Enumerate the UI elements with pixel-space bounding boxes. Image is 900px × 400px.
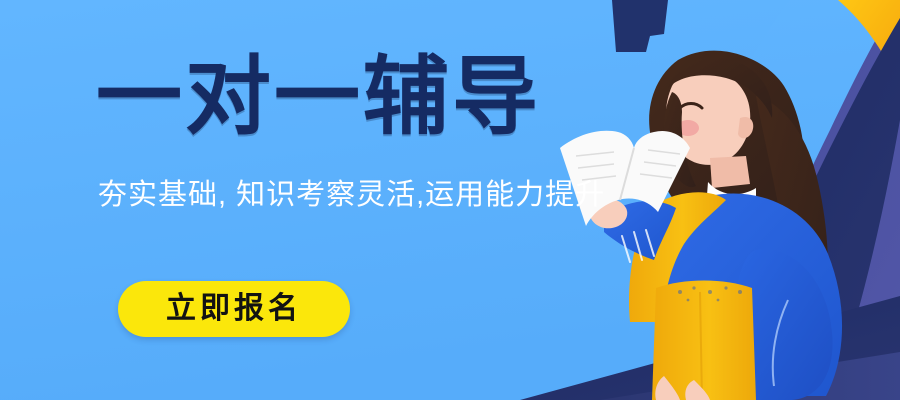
subtitle: 夯实基础, 知识考察灵活,运用能力提升 xyxy=(98,178,605,213)
neck xyxy=(710,156,750,188)
page-title: 一对一辅导 xyxy=(96,52,541,142)
banner-content: 一对一辅导 夯实基础, 知识考察灵活,运用能力提升 立即报名 xyxy=(0,0,700,400)
promo-banner: 一对一辅导 夯实基础, 知识考察灵活,运用能力提升 立即报名 xyxy=(0,0,900,400)
register-now-button[interactable]: 立即报名 xyxy=(118,281,350,337)
